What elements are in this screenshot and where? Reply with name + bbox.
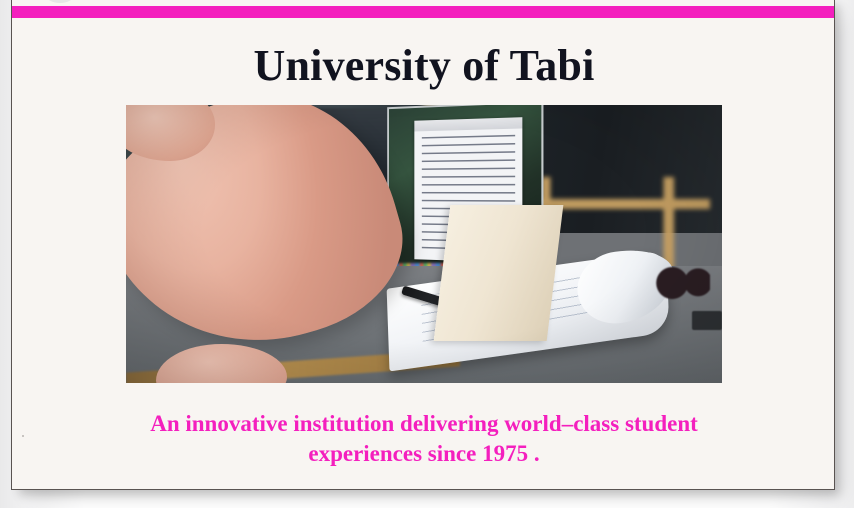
top-circle-artifact-icon — [46, 0, 74, 3]
photo-desk-small-object — [692, 311, 722, 330]
document-card: University of Tabi — [11, 0, 835, 490]
hero-image-wrapper — [12, 105, 835, 383]
magenta-accent-band — [12, 6, 835, 18]
photo-document-titlebar — [414, 117, 522, 132]
photo-paper-tent-card — [434, 205, 564, 341]
page-stage: University of Tabi — [0, 0, 854, 508]
hero-photo — [126, 105, 722, 383]
tagline-text: An innovative institution delivering wor… — [12, 383, 835, 469]
page-title: University of Tabi — [12, 18, 835, 92]
document-content: University of Tabi — [12, 18, 835, 490]
page-speck — [22, 435, 24, 437]
photo-eyeglasses — [656, 266, 710, 299]
